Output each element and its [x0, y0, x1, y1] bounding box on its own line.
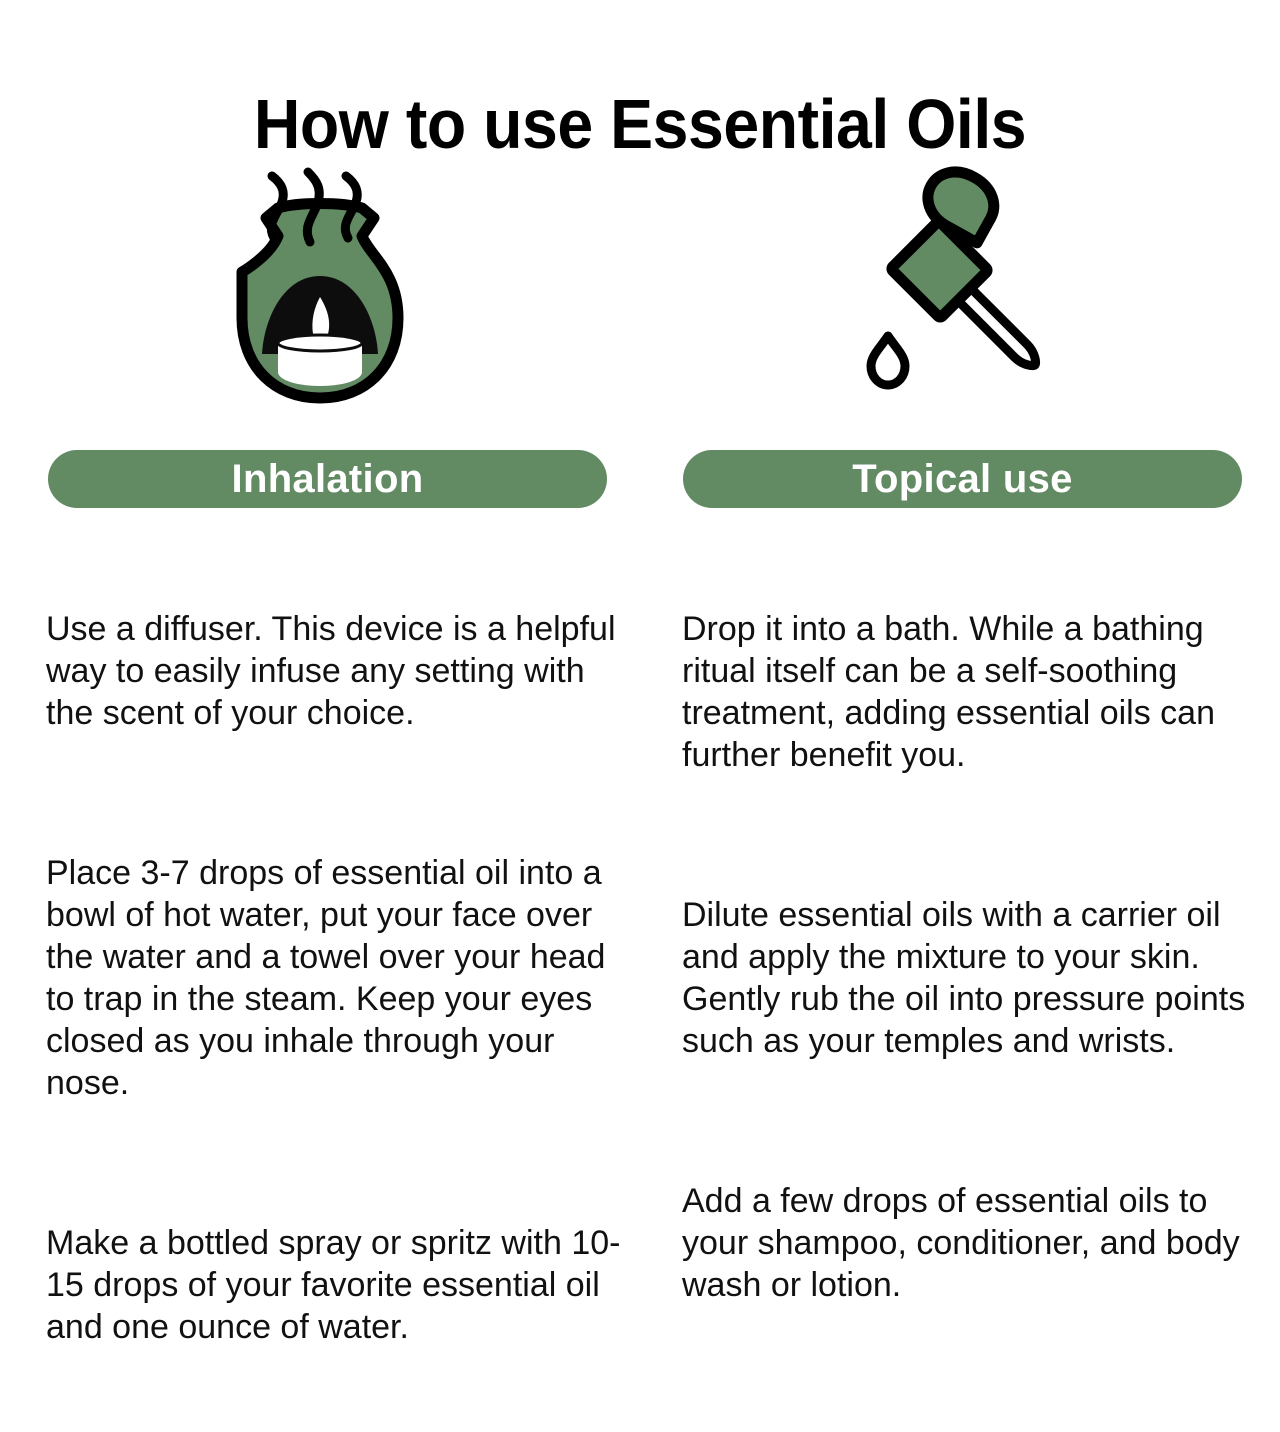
- banner-label-topical-use: Topical use: [852, 459, 1072, 499]
- paragraph: Use a diffuser. This device is a helpful…: [46, 608, 626, 734]
- column-inhalation: Inhalation Use a diffuser. This device i…: [0, 0, 640, 1280]
- paragraph: Make a bottled spray or spritz with 10-1…: [46, 1222, 626, 1348]
- column-topical-use: Topical use Drop it into a bath. While a…: [640, 0, 1280, 1280]
- paragraph: Place 3-7 drops of essential oil into a …: [46, 852, 626, 1104]
- banner-topical-use[interactable]: Topical use: [683, 450, 1242, 508]
- infographic-poster: How to use Essential Oils: [0, 0, 1280, 1280]
- banner-inhalation[interactable]: Inhalation: [48, 450, 607, 508]
- eyedropper-pipette-icon: [640, 140, 1280, 440]
- oil-droplet: [871, 336, 905, 385]
- body-text-topical-use: Drop it into a bath. While a bathing rit…: [682, 524, 1272, 1390]
- oil-burner-diffuser-icon: [0, 140, 640, 440]
- body-text-inhalation: Use a diffuser. This device is a helpful…: [46, 524, 626, 1432]
- tealight-rim: [278, 335, 362, 351]
- paragraph: Dilute essential oils with a carrier oil…: [682, 894, 1272, 1062]
- banner-label-inhalation: Inhalation: [232, 459, 424, 499]
- columns-container: Inhalation Use a diffuser. This device i…: [0, 0, 1280, 1280]
- paragraph: Add a few drops of essential oils to you…: [682, 1180, 1272, 1306]
- paragraph: Drop it into a bath. While a bathing rit…: [682, 608, 1272, 776]
